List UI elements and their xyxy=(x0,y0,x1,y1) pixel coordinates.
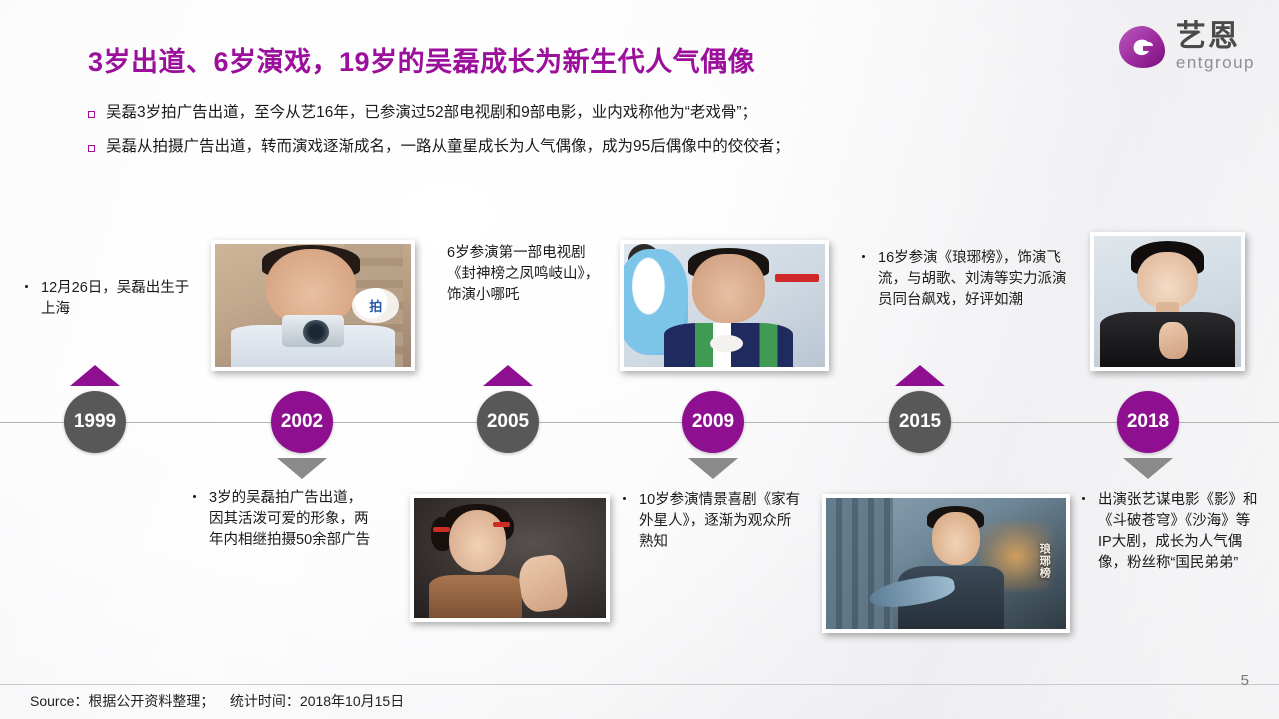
text-bullet-icon xyxy=(623,497,626,500)
caption-text: 3岁的吴磊拍广告出道，因其活泼可爱的形象，两年内相继拍摄50余部广告 xyxy=(209,488,373,551)
marker-triangle-2005 xyxy=(483,365,533,386)
caption-text: 12月26日，吴磊出生于上海 xyxy=(41,278,197,320)
photo-overlay-text: 拍 xyxy=(352,288,399,322)
text-bullet-icon xyxy=(1082,497,1085,500)
text-bullet-icon xyxy=(862,255,865,258)
page-number: 5 xyxy=(1241,672,1249,689)
text-bullet-icon xyxy=(193,495,196,498)
source-note: Source：根据公开资料整理； 统计时间：2018年10月15日 xyxy=(30,691,404,711)
timeline-node-2009[interactable]: 2009 xyxy=(682,391,744,453)
footer-divider xyxy=(0,684,1279,685)
marker-triangle-2018 xyxy=(1123,458,1173,479)
caption-2002: 3岁的吴磊拍广告出道，因其活泼可爱的形象，两年内相继拍摄50余部广告 xyxy=(193,488,373,551)
caption-2018: 出演张艺谋电影《影》和《斗破苍穹》《沙海》等IP大剧，成长为人气偶像，粉丝称“国… xyxy=(1082,490,1258,574)
logo-wordmark: 艺恩 entgroup xyxy=(1176,22,1255,71)
bullet-text: 吴磊3岁拍广告出道，至今从艺16年，已参演过52部电视剧和9部电影，业内戏称他为… xyxy=(106,103,757,124)
marker-triangle-1999 xyxy=(70,365,120,386)
marker-triangle-2015 xyxy=(895,365,945,386)
caption-text: 16岁参演《琅琊榜》，饰演飞流，与胡歌、刘涛等实力派演员同台飙戏，好评如潮 xyxy=(878,248,1067,311)
bullet-item: 吴磊从拍摄广告出道，转而演戏逐渐成名，一路从童星成长为人气偶像，成为95后偶像中… xyxy=(88,137,1188,158)
timeline-axis xyxy=(0,422,1279,423)
timeline-node-2002[interactable]: 2002 xyxy=(271,391,333,453)
photo-2018 xyxy=(1090,232,1245,371)
timeline-node-2015[interactable]: 2015 xyxy=(889,391,951,453)
timeline-node-1999[interactable]: 1999 xyxy=(64,391,126,453)
caption-text: 10岁参演情景喜剧《家有外星人》，逐渐为观众所熟知 xyxy=(639,490,803,553)
marker-triangle-2002 xyxy=(277,458,327,479)
photo-2005 xyxy=(410,494,610,622)
page-title: 3岁出道、6岁演戏，19岁的吴磊成长为新生代人气偶像 xyxy=(88,40,755,79)
square-bullet-icon xyxy=(88,145,95,152)
caption-text: 出演张艺谋电影《影》和《斗破苍穹》《沙海》等IP大剧，成长为人气偶像，粉丝称“国… xyxy=(1098,490,1258,574)
photo-2002: 拍 xyxy=(211,240,415,371)
bullet-item: 吴磊3岁拍广告出道，至今从艺16年，已参演过52部电视剧和9部电影，业内戏称他为… xyxy=(88,103,1188,124)
photo-2015: 琅琊榜 xyxy=(822,494,1070,633)
caption-2009: 10岁参演情景喜剧《家有外星人》，逐渐为观众所熟知 xyxy=(623,490,803,553)
logo-english-name: entgroup xyxy=(1176,54,1255,71)
timeline-node-2005[interactable]: 2005 xyxy=(477,391,539,453)
logo-chinese-name: 艺恩 xyxy=(1176,22,1240,52)
entgroup-logo: 艺恩 entgroup xyxy=(1117,22,1255,71)
entgroup-logo-mark-icon xyxy=(1117,24,1167,70)
timeline-node-2018[interactable]: 2018 xyxy=(1117,391,1179,453)
caption-1999: 12月26日，吴磊出生于上海 xyxy=(25,278,197,320)
marker-triangle-2009 xyxy=(688,458,738,479)
caption-2015: 16岁参演《琅琊榜》，饰演飞流，与胡歌、刘涛等实力派演员同台飙戏，好评如潮 xyxy=(862,248,1067,311)
bullet-text: 吴磊从拍摄广告出道，转而演戏逐渐成名，一路从童星成长为人气偶像，成为95后偶像中… xyxy=(106,137,790,158)
text-bullet-icon xyxy=(25,285,28,288)
caption-text: 6岁参演第一部电视剧《封神榜之凤鸣岐山》，饰演小哪吒 xyxy=(447,243,607,306)
intro-bullet-list: 吴磊3岁拍广告出道，至今从艺16年，已参演过52部电视剧和9部电影，业内戏称他为… xyxy=(88,103,1188,171)
photo-overlay-text: 琅琊榜 xyxy=(1038,543,1050,579)
square-bullet-icon xyxy=(88,111,95,118)
slide-canvas: 艺恩 entgroup 3岁出道、6岁演戏，19岁的吴磊成长为新生代人气偶像 吴… xyxy=(0,0,1279,719)
caption-2005: 6岁参演第一部电视剧《封神榜之凤鸣岐山》，饰演小哪吒 xyxy=(447,243,607,306)
photo-2009 xyxy=(620,240,829,371)
